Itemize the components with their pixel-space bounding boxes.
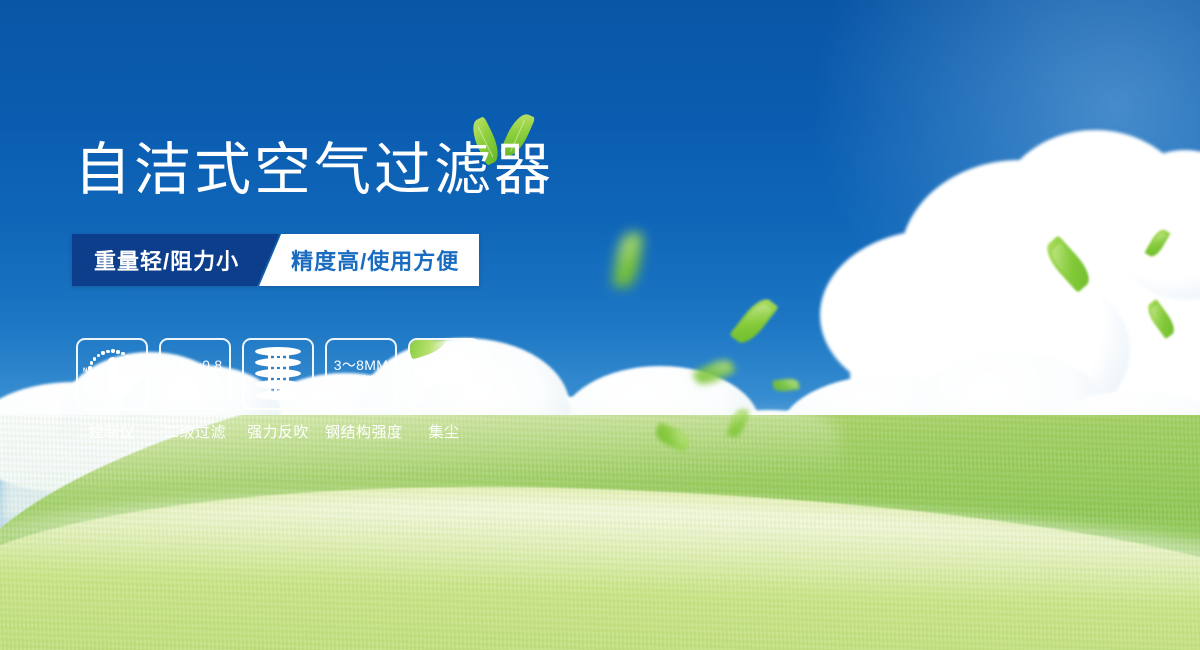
gauge-tick	[133, 378, 136, 381]
gauge-tick	[131, 383, 134, 386]
gauge-tick	[129, 359, 132, 362]
filter-stack-icon	[255, 347, 301, 401]
tagline-bar: 重量轻/阻力小 精度高/使用方便	[72, 234, 479, 286]
feature-icon-box	[242, 338, 314, 410]
page-title: 自洁式空气过滤器	[74, 142, 554, 199]
feature-icon-box: 0.6〜0.8 MPA	[159, 338, 231, 410]
gauge-tick	[131, 363, 134, 366]
gauge-tick	[101, 351, 104, 354]
grass-texture	[0, 415, 1200, 650]
feature-item-dust[interactable]: Air 集尘	[408, 338, 480, 442]
gauge-needle	[108, 357, 117, 393]
tagline-right: 精度高/使用方便	[259, 234, 479, 286]
air-label: Air	[410, 392, 478, 404]
gauge-label-off: OFF	[126, 391, 139, 397]
gauge-tick	[106, 350, 109, 353]
steel-material: 钢板	[334, 374, 388, 392]
gauge-tick	[88, 376, 91, 379]
gauge-tick	[128, 387, 131, 390]
feature-icon-box: 3〜8MM 钢板	[325, 338, 397, 410]
feature-item-controller[interactable]: NO OFF 控制仪	[76, 338, 148, 442]
gauge-tick	[110, 395, 113, 398]
pressure-text-icon: 0.6〜0.8 MPA	[167, 357, 222, 392]
gauge-tick	[88, 366, 91, 369]
feature-item-backflush[interactable]: 强力反吹	[242, 338, 314, 442]
gauge-tick	[116, 350, 119, 353]
pressure-unit: MPA	[167, 374, 222, 392]
gauge-tick	[90, 361, 93, 364]
gauge-tick	[97, 354, 100, 357]
gauge-tick	[96, 390, 99, 393]
gauge-tick	[100, 393, 103, 396]
gauge-tick	[93, 357, 96, 360]
gauge-tick	[133, 373, 136, 376]
gauge-tick	[87, 371, 90, 374]
gauge-tick	[133, 368, 136, 371]
gauge-tick	[105, 395, 108, 398]
steel-thickness: 3〜8MM	[334, 357, 388, 375]
feature-caption: 钢结构强度	[325, 421, 397, 442]
tagline-left: 重量轻/阻力小	[72, 234, 279, 286]
feature-icon-box: Air	[408, 338, 480, 410]
feature-item-steel[interactable]: 3〜8MM 钢板 钢结构强度	[325, 338, 397, 442]
feature-caption: 强力反吹	[242, 421, 314, 442]
gauge-icon: NO OFF	[84, 348, 140, 400]
gauge-tick	[120, 393, 123, 396]
gauge-tick	[125, 355, 128, 358]
feature-caption: 控制仪	[76, 421, 148, 442]
promo-banner: 自洁式空气过滤器 重量轻/阻力小 精度高/使用方便 NO OFF 控制仪 0.6…	[0, 0, 1200, 650]
gauge-tick	[111, 349, 114, 352]
feature-item-filtration[interactable]: 0.6〜0.8 MPA 二级过滤	[159, 338, 231, 442]
feature-icon-box: NO OFF	[76, 338, 148, 410]
pressure-range: 0.6〜0.8	[167, 357, 222, 375]
feature-list: NO OFF 控制仪 0.6〜0.8 MPA 二级过滤	[76, 338, 480, 442]
feature-caption: 二级过滤	[159, 421, 231, 442]
gauge-tick	[121, 352, 124, 355]
gauge-tick	[115, 395, 118, 398]
steel-plate-text-icon: 3〜8MM 钢板	[334, 357, 388, 392]
grass-field	[0, 415, 1200, 650]
feature-caption: 集尘	[408, 421, 480, 442]
